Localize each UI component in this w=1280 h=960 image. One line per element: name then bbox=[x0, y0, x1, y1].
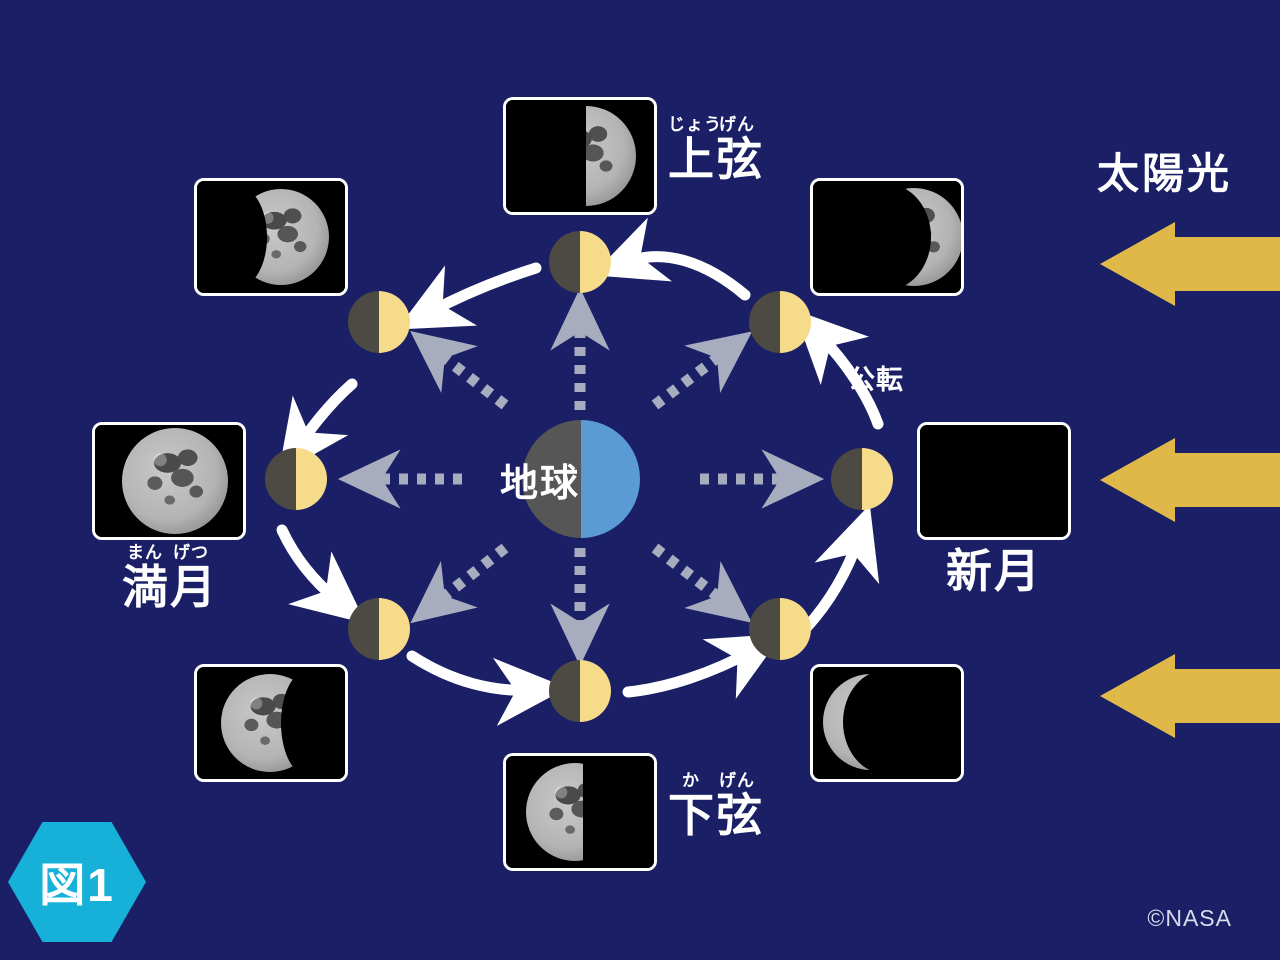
kanji-last-quarter: 下弦 bbox=[668, 789, 764, 841]
photo-inner bbox=[506, 100, 654, 212]
furigana-full-moon: まんげつ bbox=[122, 544, 218, 561]
orbit-arc-w bbox=[282, 530, 337, 600]
moon-lit-half bbox=[379, 598, 410, 660]
sunlight-arrow-top bbox=[1100, 222, 1280, 306]
moon-dark-half bbox=[348, 291, 379, 353]
orbit-moon-top-left bbox=[348, 291, 410, 353]
figure-badge: 図1 bbox=[8, 822, 146, 942]
photo-inner bbox=[813, 667, 961, 779]
photo-inner bbox=[813, 181, 961, 293]
furigana-part: じょう bbox=[668, 116, 714, 133]
waning-crescent-moon-photo bbox=[810, 664, 964, 782]
moon-lit-half bbox=[296, 448, 327, 510]
sunlight-arrow-middle bbox=[1100, 438, 1280, 522]
kanji-full-moon: 満月 bbox=[122, 561, 218, 613]
furigana-last-quarter: かげん bbox=[668, 772, 764, 789]
orbit-arc-s bbox=[628, 652, 750, 692]
credit-text: ©NASA bbox=[1147, 905, 1232, 932]
waning-gibbous-moon-photo bbox=[194, 664, 348, 782]
orbit-moon-top-right bbox=[749, 291, 811, 353]
waxing-crescent-moon-photo bbox=[810, 178, 964, 296]
terminator-mask bbox=[843, 184, 931, 290]
moon-phase-diagram: 地球 じょうげん 上弦 まんげつ 満月 新月 かげん 下弦 太陽光 公転 図1 … bbox=[0, 0, 1280, 960]
moon-lit-half bbox=[780, 598, 811, 660]
moon-disc bbox=[122, 428, 228, 534]
moon-lit-half bbox=[580, 231, 611, 293]
orbit-moon-right bbox=[831, 448, 893, 510]
photo-inner bbox=[95, 425, 243, 537]
figure-badge-label: 図1 bbox=[8, 822, 146, 942]
orbit-moon-left bbox=[265, 448, 327, 510]
ray-upright bbox=[655, 352, 725, 405]
moon-lit-half bbox=[862, 448, 893, 510]
ray-downleft bbox=[437, 548, 505, 602]
furigana-first-quarter: じょうげん bbox=[668, 116, 764, 133]
kanji-first-quarter: 上弦 bbox=[668, 133, 764, 185]
orbit-arc-ne bbox=[627, 257, 745, 295]
terminator-mask bbox=[583, 756, 654, 868]
moon-dark-half bbox=[348, 598, 379, 660]
terminator-mask bbox=[843, 670, 929, 774]
earth-label: 地球 bbox=[468, 452, 612, 507]
orbit-arc-sw bbox=[412, 656, 530, 690]
orbit-arc-n bbox=[430, 268, 536, 312]
moon-lit-half bbox=[780, 291, 811, 353]
kanji-new-moon: 新月 bbox=[946, 545, 1042, 597]
sunlight-arrow-bottom bbox=[1100, 654, 1280, 738]
full-moon-photo bbox=[92, 422, 246, 540]
new-moon-photo bbox=[917, 422, 1071, 540]
moon-lit-half bbox=[580, 660, 611, 722]
furigana-part: まん bbox=[122, 544, 168, 561]
moon-dark-half bbox=[749, 598, 780, 660]
orbit-moon-bottom-left bbox=[348, 598, 410, 660]
label-full-moon: まんげつ 満月 bbox=[122, 544, 218, 610]
moon-dark-half bbox=[549, 660, 580, 722]
orbit-moon-top bbox=[549, 231, 611, 293]
furigana-part: か bbox=[668, 772, 714, 789]
sunlight-label: 太陽光 bbox=[1097, 140, 1232, 201]
orbit-arc-nw bbox=[300, 384, 352, 444]
photo-inner bbox=[197, 181, 345, 293]
orbit-moon-bottom bbox=[549, 660, 611, 722]
terminator-mask bbox=[211, 187, 267, 287]
label-first-quarter: じょうげん 上弦 bbox=[668, 116, 764, 182]
photo-inner bbox=[197, 667, 345, 779]
orbit-label: 公転 bbox=[848, 358, 904, 397]
photo-inner bbox=[506, 756, 654, 868]
moon-dark-half bbox=[831, 448, 862, 510]
terminator-mask bbox=[506, 100, 586, 212]
furigana-part: げつ bbox=[168, 544, 214, 561]
label-new-moon: 新月 bbox=[946, 548, 1042, 594]
moon-dark-half bbox=[749, 291, 780, 353]
ray-downright bbox=[655, 548, 725, 602]
waxing-gibbous-moon-photo bbox=[194, 178, 348, 296]
moon-dark-half bbox=[265, 448, 296, 510]
first-quarter-moon-photo bbox=[503, 97, 657, 215]
last-quarter-moon-photo bbox=[503, 753, 657, 871]
furigana-part: げん bbox=[714, 772, 760, 789]
orbit-moon-bottom-right bbox=[749, 598, 811, 660]
terminator-mask bbox=[281, 671, 333, 775]
moon-dark-half bbox=[549, 231, 580, 293]
photo-inner bbox=[920, 425, 1068, 537]
furigana-part: げん bbox=[714, 116, 760, 133]
label-last-quarter: かげん 下弦 bbox=[668, 772, 764, 838]
ray-upleft bbox=[437, 352, 505, 405]
sunlight-arrows bbox=[1100, 222, 1280, 738]
moon-lit-half bbox=[379, 291, 410, 353]
orbit-arc-se bbox=[806, 540, 858, 628]
